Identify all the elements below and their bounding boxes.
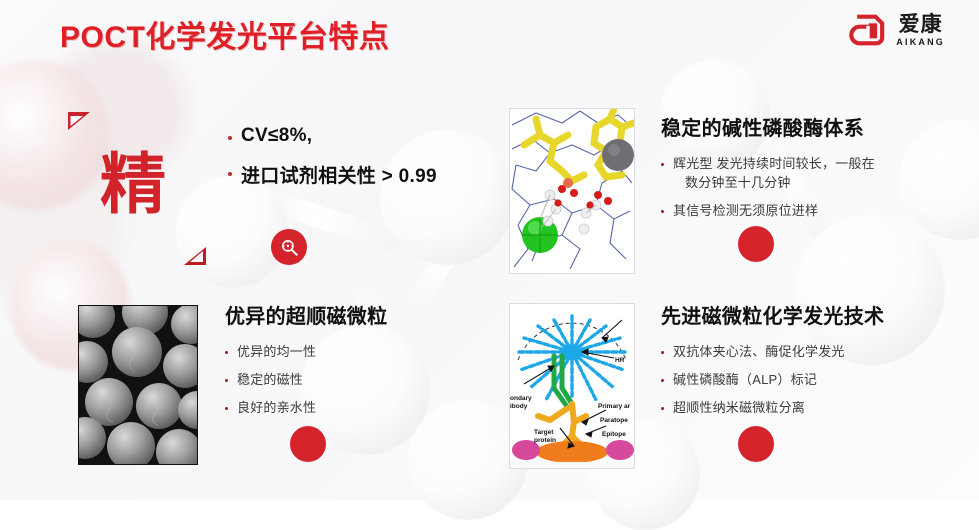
hero-bullet-text: CV≤8%,	[241, 125, 312, 147]
list-item-text: 碱性磷酸酶（ALP）标记	[673, 371, 817, 390]
list-item: 其信号检测无须原位进样	[661, 202, 961, 221]
svg-text:Paratope: Paratope	[600, 417, 628, 424]
bullet-dot-icon	[661, 163, 664, 166]
hero-bullet-list: CV≤8%, 进口试剂相关性 > 0.99	[228, 125, 437, 202]
bullet-dot-icon	[661, 379, 664, 382]
logo-name-cn: 爱康	[899, 14, 943, 35]
corner-bracket-bottom-right-icon	[184, 243, 206, 265]
svg-text:HR: HR	[615, 357, 625, 364]
corner-bracket-top-left-icon	[68, 112, 90, 134]
hero-character: 精	[100, 152, 166, 218]
svg-text:ondary: ondary	[510, 395, 532, 402]
bullet-dot-icon	[225, 351, 228, 354]
logo-name-en: AIKANG	[896, 38, 945, 47]
list-item-text: 良好的亲水性	[237, 399, 316, 418]
bullet-dot-icon	[228, 172, 232, 176]
section-marker-magnetic-clia[interactable]	[738, 426, 774, 462]
section-marker-alkaline-phosphatase[interactable]	[738, 226, 774, 262]
list-item: 超顺性纳米磁微粒分离	[661, 399, 971, 418]
enzyme-active-site-molecular-model-image	[509, 108, 635, 274]
bullet-dot-icon	[661, 407, 664, 410]
hero-bullet-item: 进口试剂相关性 > 0.99	[228, 161, 437, 188]
list-item-text: 双抗体夹心法、酶促化学发光	[673, 343, 845, 362]
list-item: 稳定的磁性	[225, 371, 525, 390]
list-item-text: 稳定的磁性	[237, 371, 303, 390]
bullet-dot-icon	[225, 407, 228, 410]
svg-text:protein: protein	[534, 437, 556, 444]
list-item: 优异的均一性	[225, 343, 525, 362]
svg-text:ibody: ibody	[510, 403, 528, 410]
section-superparamagnetic-microparticles: 优异的超顺磁微粒 优异的均一性 稳定的磁性 良好的亲水性	[225, 300, 525, 427]
section-bullet-list: 双抗体夹心法、酶促化学发光 碱性磷酸酶（ALP）标记 超顺性纳米磁微粒分离	[661, 343, 971, 418]
svg-text:Epitope: Epitope	[602, 431, 626, 438]
list-item: 双抗体夹心法、酶促化学发光	[661, 343, 971, 362]
page-title: POCT化学发光平台特点	[60, 12, 389, 56]
magnifier-target-icon	[280, 238, 299, 257]
section-heading: 先进磁微粒化学发光技术	[661, 300, 971, 329]
list-item-text: 辉光型 发光持续时间较长，一般在 数分钟至十几分钟	[673, 155, 875, 193]
bullet-dot-icon	[661, 210, 664, 213]
sem-magnetic-microspheres-image	[78, 305, 198, 465]
section-bullet-list: 优异的均一性 稳定的磁性 良好的亲水性	[225, 343, 525, 418]
sandwich-immunoassay-diagram-image: HR ondary ibody Primary ar Paratope Epit…	[509, 303, 635, 469]
list-item: 良好的亲水性	[225, 399, 525, 418]
hero-bullet-text: 进口试剂相关性 > 0.99	[241, 161, 437, 188]
section-heading: 优异的超顺磁微粒	[225, 300, 525, 329]
hero-marker-magnifier[interactable]	[271, 229, 307, 265]
section-bullet-list: 辉光型 发光持续时间较长，一般在 数分钟至十几分钟 其信号检测无须原位进样	[661, 155, 961, 221]
section-alkaline-phosphatase-system: 稳定的碱性磷酸酶体系 辉光型 发光持续时间较长，一般在 数分钟至十几分钟 其信号…	[661, 112, 961, 230]
section-heading: 稳定的碱性磷酸酶体系	[661, 112, 961, 141]
brand-logo: 爱康 AIKANG	[848, 10, 945, 50]
slide-canvas: POCT化学发光平台特点 爱康 AIKANG 精 CV≤8%, 进口试剂相	[0, 0, 979, 500]
section-magnetic-particle-clia: 先进磁微粒化学发光技术 双抗体夹心法、酶促化学发光 碱性磷酸酶（ALP）标记 超…	[661, 300, 971, 427]
bullet-dot-icon	[225, 379, 228, 382]
list-item-text: 优异的均一性	[237, 343, 316, 362]
bullet-dot-icon	[228, 136, 232, 140]
hero-bullet-item: CV≤8%,	[228, 125, 437, 147]
bullet-dot-icon	[661, 351, 664, 354]
list-item-text: 其信号检测无须原位进样	[673, 202, 818, 221]
bg-pink-blob-1	[0, 60, 110, 210]
section-marker-superparamagnetic[interactable]	[290, 426, 326, 462]
svg-text:Primary ar: Primary ar	[598, 403, 631, 410]
list-item-text: 超顺性纳米磁微粒分离	[673, 399, 805, 418]
list-item: 辉光型 发光持续时间较长，一般在 数分钟至十几分钟	[661, 155, 961, 193]
aikang-logo-mark-icon	[848, 10, 888, 50]
svg-text:Target: Target	[534, 429, 554, 436]
list-item: 碱性磷酸酶（ALP）标记	[661, 371, 971, 390]
